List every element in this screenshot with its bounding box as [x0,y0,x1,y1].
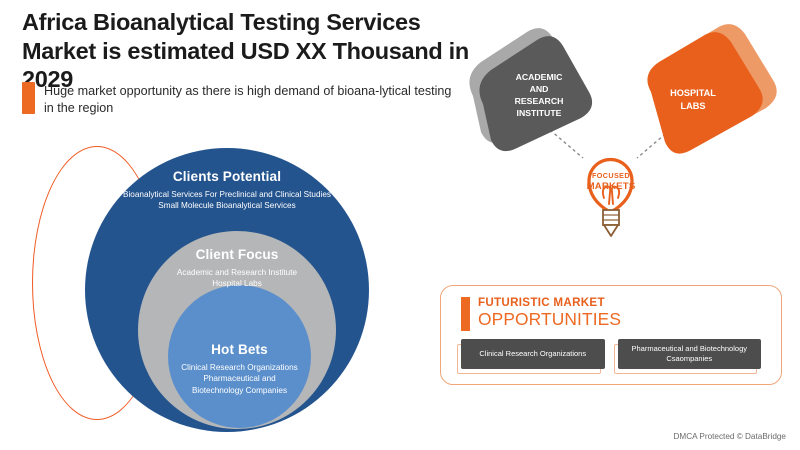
hot-bets-body: Clinical Research Organizations Pharmace… [168,362,311,396]
focused-markets-svg: ACADEMIC AND RESEARCH INSTITUTE HOSPITAL… [455,18,800,268]
bulb-label-line1: FOCUSED [592,171,630,180]
academic-node-line3: RESEARCH [515,96,564,106]
subtitle-text: Huge market opportunity as there is high… [44,82,452,116]
hospital-node-line1: HOSPITAL [670,88,716,98]
infographic-canvas: Africa Bioanalytical Testing Services Ma… [0,0,800,450]
opportunity-box-label-0[interactable]: Clinical Research Organizations [461,339,605,369]
bulb-label-line2: MARKETS [587,181,636,192]
academic-node-line2: AND [530,84,549,94]
lightbulb-tip [604,225,618,236]
hot-bets-labels: Hot Bets Clinical Research Organizations… [168,342,311,396]
opportunity-box-label-1[interactable]: Pharmaceutical and Biotechnology Csaompa… [618,339,762,369]
focused-markets-diagram: ACADEMIC AND RESEARCH INSTITUTE HOSPITAL… [455,18,800,268]
academic-node-line1: ACADEMIC [516,72,564,82]
lightbulb-icon[interactable]: FOCUSED MARKETS [587,160,636,237]
futuristic-opportunities-panel: FUTURISTIC MARKET OPPORTUNITIES Clinical… [440,285,782,385]
client-focus-labels: Client Focus Academic and Research Insti… [138,247,336,290]
nested-circles-diagram: Clients Potential Bioanalytical Services… [28,142,368,437]
clients-potential-heading: Clients Potential [85,169,369,184]
footer-credit: DMCA Protected © DataBridge [673,432,786,441]
connector-left-dashed [550,130,583,158]
opportunity-item: Pharmaceutical and Biotechnology Csaompa… [618,339,762,369]
clients-potential-body: Bioanalytical Services For Preclinical a… [85,189,369,212]
opportunities-title-line2: OPPORTUNITIES [478,310,621,328]
academic-node-line4: INSTITUTE [517,108,562,118]
opportunities-accent-bar [461,297,470,331]
subtitle-block: Huge market opportunity as there is high… [22,82,452,116]
opportunities-header: FUTURISTIC MARKET OPPORTUNITIES [461,297,621,331]
opportunities-box-list: Clinical Research Organizations Pharmace… [461,339,761,369]
clients-potential-labels: Clients Potential Bioanalytical Services… [85,169,369,212]
lightbulb-base [603,210,619,225]
opportunities-title-line1: FUTURISTIC MARKET [478,297,621,309]
opportunity-item: Clinical Research Organizations [461,339,605,369]
client-focus-body: Academic and Research Institute Hospital… [138,267,336,290]
hospital-node-line2: LABS [680,101,705,111]
hot-bets-heading: Hot Bets [168,342,311,357]
subtitle-accent-bar [22,82,35,114]
client-focus-heading: Client Focus [138,247,336,262]
